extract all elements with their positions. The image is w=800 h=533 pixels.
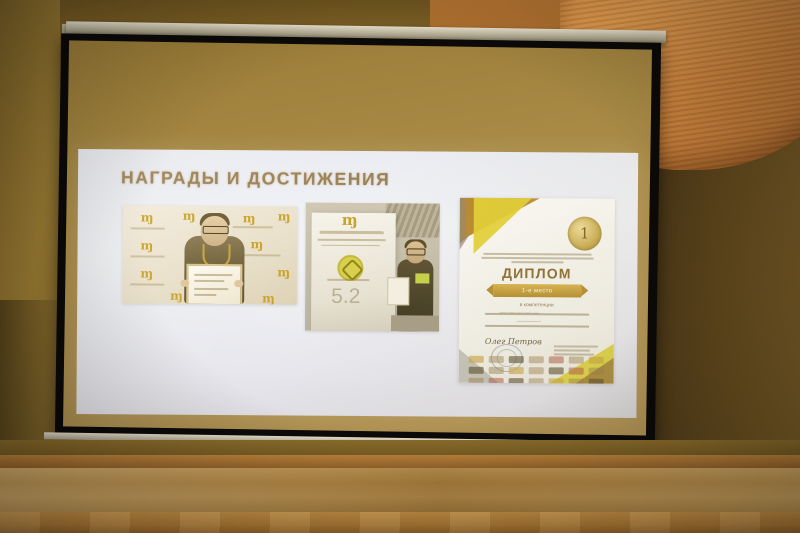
photo-award-portrait: ɱ ɱ ɱ ɱ ɱ ɱ ɱ ɱ ɱ ɱ <box>122 205 298 304</box>
banner-text-line <box>131 227 165 229</box>
championship-logo-icon: ɱ <box>342 211 358 229</box>
banner-number: 5.2 <box>331 285 360 309</box>
presentation-slide: НАГРАДЫ И ДОСТИЖЕНИЯ ɱ ɱ ɱ ɱ ɱ ɱ ɱ ɱ ɱ ɱ <box>76 149 638 418</box>
glasses-icon <box>406 248 425 255</box>
banner-logo-icon: ɱ <box>277 266 290 279</box>
held-certificate <box>387 277 409 305</box>
sponsor-logo-row <box>469 367 604 375</box>
banner-title-line <box>320 231 384 234</box>
banner-text-line <box>233 226 273 228</box>
seal-number: 1 <box>568 216 602 250</box>
sponsor-logo-row <box>469 378 604 384</box>
banner-logo-icon: ɱ <box>140 267 153 280</box>
banner-logo-icon: ɱ <box>243 212 256 225</box>
person-hand <box>180 280 189 287</box>
diploma-header-text <box>481 251 593 266</box>
projection-screen: НАГРАДЫ И ДОСТИЖЕНИЯ ɱ ɱ ɱ ɱ ɱ ɱ ɱ ɱ ɱ ɱ <box>55 33 661 444</box>
banner-logo-icon: ɱ <box>183 210 196 223</box>
diploma-handwritten-name: ————— <box>499 308 539 317</box>
sponsor-logo-row <box>469 356 604 364</box>
banner-text-line <box>130 255 164 257</box>
room-photo-scene: НАГРАДЫ И ДОСТИЖЕНИЯ ɱ ɱ ɱ ɱ ɱ ɱ ɱ ɱ ɱ ɱ <box>0 0 800 533</box>
banner-caption-line <box>327 279 369 281</box>
banner-logo-icon: ɱ <box>278 210 291 223</box>
hall-floor <box>391 315 439 331</box>
place-ribbon-label: 1-е место <box>493 284 581 298</box>
photo-championship-banner: ɱ 5.2 <box>305 203 440 332</box>
screen-surface: НАГРАДЫ И ДОСТИЖЕНИЯ ɱ ɱ ɱ ɱ ɱ ɱ ɱ ɱ ɱ ɱ <box>63 40 652 435</box>
banner-logo-icon: ɱ <box>251 238 264 251</box>
place-ribbon: 1-е место <box>493 284 581 298</box>
competency-badge-icon <box>337 255 363 281</box>
participant-badge <box>415 273 429 283</box>
person-hand <box>234 280 243 287</box>
desk-front-panel <box>0 512 800 533</box>
banner-text-line <box>130 283 164 285</box>
banner-text-line <box>240 254 280 256</box>
desk-surface <box>0 468 800 516</box>
gold-medal-seal-icon: 1 <box>568 216 602 250</box>
slide-title: НАГРАДЫ И ДОСТИЖЕНИЯ <box>121 167 390 190</box>
photo-diploma: 1 ДИПЛОМ 1-е место в компетенции ————— —… <box>459 198 615 384</box>
sponsor-logo-grid <box>469 356 604 384</box>
corner-wedge-yellow <box>474 198 532 254</box>
banner-logo-icon: ɱ <box>170 290 183 303</box>
banner-logo-icon: ɱ <box>141 211 154 224</box>
banner-logo-icon: ɱ <box>141 239 154 252</box>
diploma-handwritten-nomination: ———— <box>517 319 541 325</box>
banner-logo-icon: ɱ <box>262 292 275 304</box>
glasses-icon <box>203 226 229 234</box>
diploma-title: ДИПЛОМ <box>459 265 614 282</box>
